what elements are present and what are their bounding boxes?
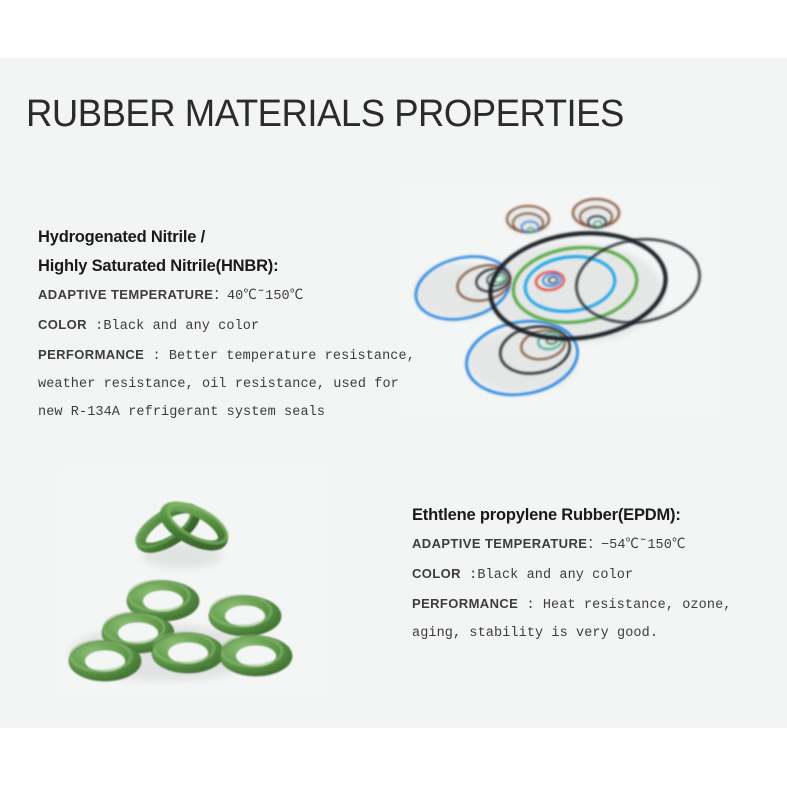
epdm-spec-color-sep: : — [461, 568, 477, 583]
epdm-performance-cont-1: aging, stability is very good. — [412, 620, 732, 648]
hnbr-spec-temperature-label: ADAPTIVE TEMPERATURE — [38, 287, 213, 302]
hnbr-performance-cont-1: weather resistance, oil resistance, used… — [38, 371, 415, 399]
epdm-spec-temperature-sep: ： — [587, 538, 601, 553]
epdm-spec-temperature-label: ADAPTIVE TEMPERATURE — [412, 536, 587, 551]
hnbr-spec-temperature: ADAPTIVE TEMPERATURE：40℃˜150℃ — [38, 281, 415, 311]
hnbr-spec-temperature-sep: ： — [213, 289, 227, 304]
hnbr-spec-performance-sep: : — [144, 349, 169, 364]
epdm-spec-performance-label: PERFORMANCE — [412, 596, 518, 611]
assorted-colored-o-rings-photo — [400, 183, 720, 413]
epdm-spec-performance-sep: : — [518, 598, 543, 613]
hnbr-spec-color: COLOR :Black and any color — [38, 311, 415, 341]
hnbr-spec-color-value: Black and any color — [103, 319, 259, 334]
poster-canvas: RUBBER MATERIALS PROPERTIES — [0, 58, 787, 728]
hnbr-spec-color-sep: : — [87, 319, 103, 334]
epdm-spec-color-value: Black and any color — [477, 568, 633, 583]
epdm-spec-temperature: ADAPTIVE TEMPERATURE：−54℃˜150℃ — [412, 530, 732, 560]
hnbr-spec-temperature-value: 40℃˜150℃ — [227, 289, 303, 304]
epdm-spec-performance-value: Heat resistance, ozone, — [543, 598, 732, 613]
hnbr-spec-color-label: COLOR — [38, 317, 87, 332]
hnbr-heading-line2: Highly Saturated Nitrile(HNBR): — [38, 252, 415, 281]
hnbr-spec-performance-value: Better temperature resistance, — [169, 349, 415, 364]
epdm-heading-line1: Ethtlene propylene Rubber(EPDM): — [412, 501, 732, 530]
hnbr-spec-performance-label: PERFORMANCE — [38, 347, 144, 362]
green-o-rings-photo — [60, 468, 330, 698]
hnbr-spec-performance: PERFORMANCE : Better temperature resista… — [38, 341, 415, 371]
material-block-epdm: Ethtlene propylene Rubber(EPDM): ADAPTIV… — [412, 501, 732, 648]
epdm-spec-temperature-value: −54℃˜150℃ — [601, 538, 686, 553]
epdm-spec-performance: PERFORMANCE : Heat resistance, ozone, — [412, 590, 732, 620]
page-title: RUBBER MATERIALS PROPERTIES — [26, 93, 624, 136]
material-block-hnbr: Hydrogenated Nitrile / Highly Saturated … — [38, 223, 415, 427]
hnbr-performance-cont-2: new R-134A refrigerant system seals — [38, 399, 415, 427]
hnbr-heading-line1: Hydrogenated Nitrile / — [38, 223, 415, 252]
epdm-spec-color: COLOR :Black and any color — [412, 560, 732, 590]
epdm-spec-color-label: COLOR — [412, 566, 461, 581]
